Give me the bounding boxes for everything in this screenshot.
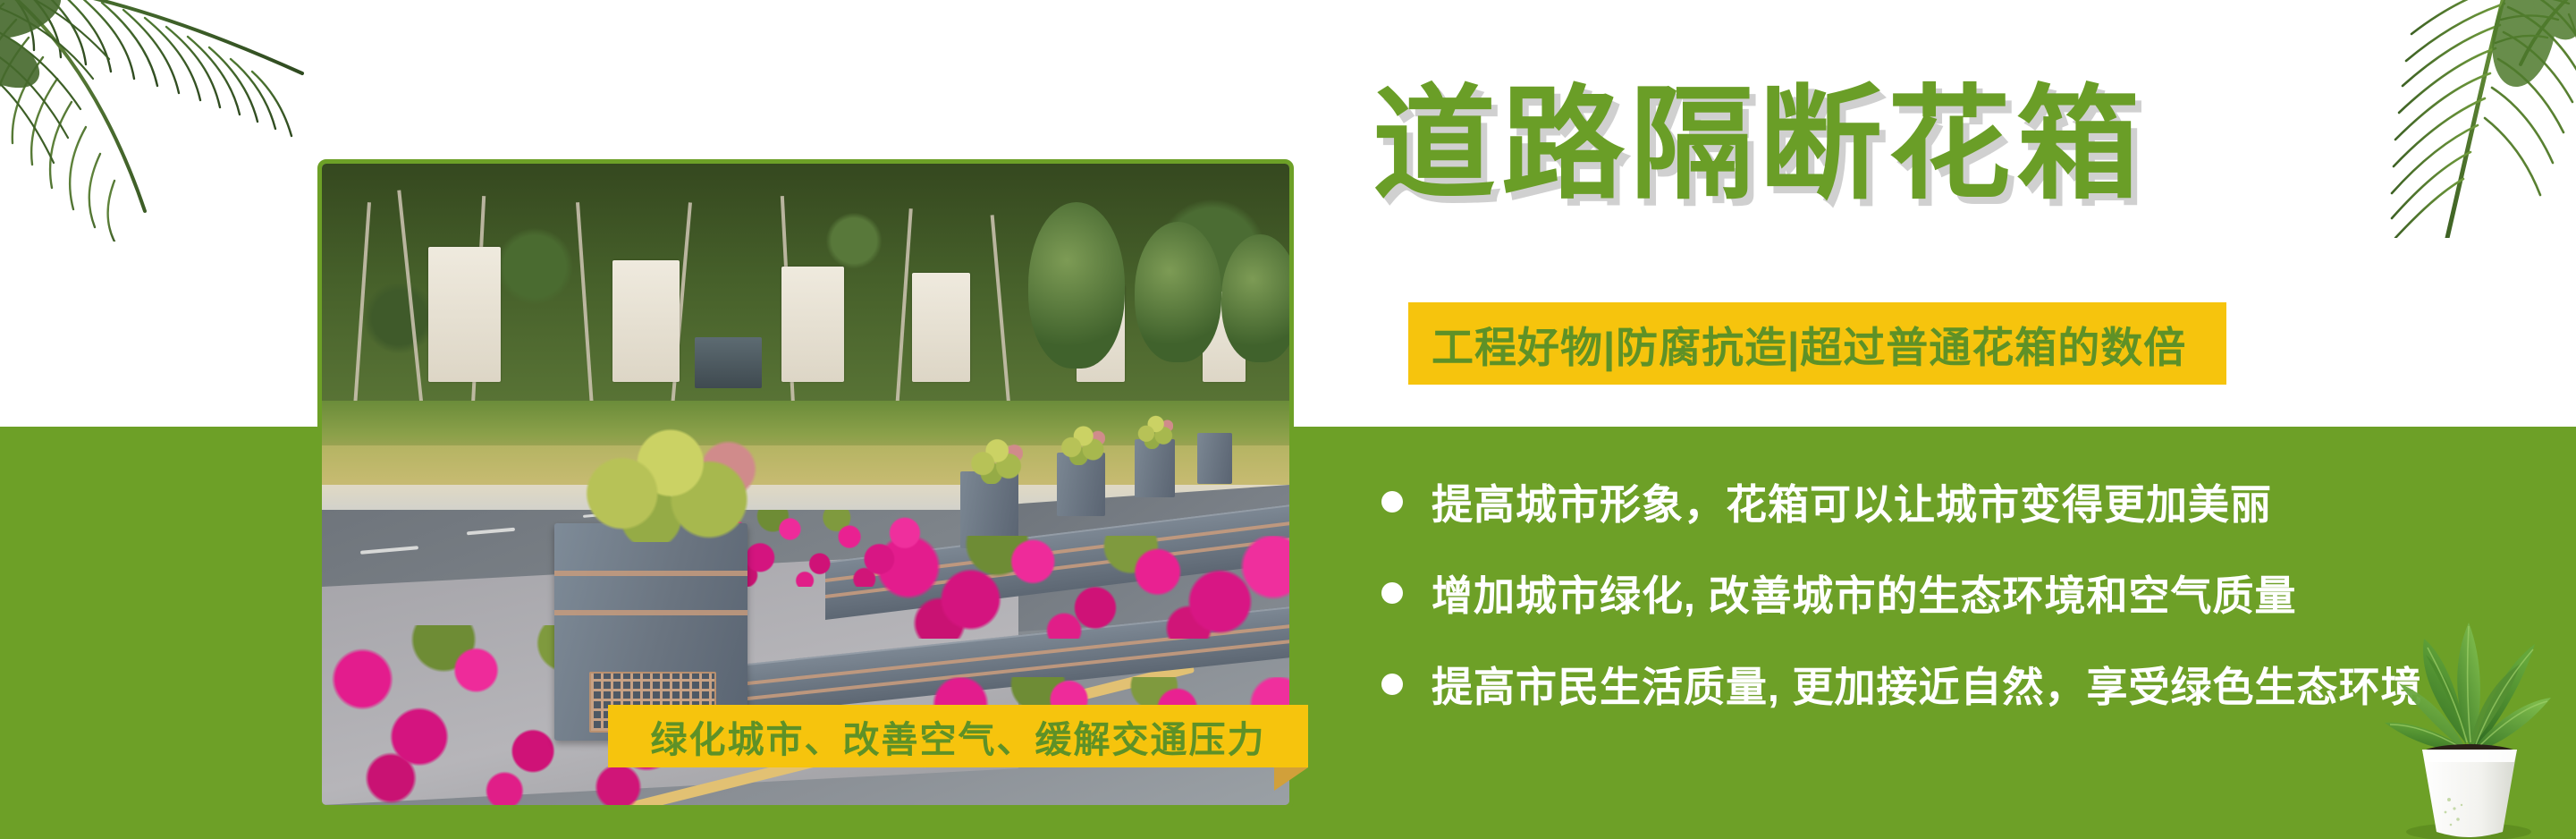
conifer-tree <box>1028 202 1125 369</box>
flower-bed <box>864 536 1289 639</box>
main-planter-foliage <box>564 420 757 542</box>
wall-panel <box>912 273 970 382</box>
bullet-dot-icon <box>1381 582 1403 604</box>
conifer-tree <box>1221 234 1289 362</box>
wall-panel <box>428 247 501 382</box>
subtitle-text: 工程好物|防腐抗造|超过普通花箱的数倍 <box>1408 313 2186 375</box>
caption-fold-corner <box>1274 767 1308 791</box>
palm-frond-icon <box>0 0 309 242</box>
list-item: 提高城市形象，花箱可以让城市变得更加美丽 <box>1381 456 2562 547</box>
conifer-tree <box>1135 222 1221 363</box>
wall-panel <box>781 267 844 382</box>
subtitle-badge: 工程好物|防腐抗造|超过普通花箱的数倍 <box>1408 302 2226 385</box>
photo-caption-text: 绿化城市、改善空气、缓解交通压力 <box>651 709 1266 763</box>
photo-caption-band: 绿化城市、改善空气、缓解交通压力 <box>608 705 1308 767</box>
bullet-dot-icon <box>1381 491 1403 513</box>
list-item-label: 提高市民生活质量, 更加接近自然，享受绿色生态环境 <box>1432 655 2423 714</box>
palm-frond-icon <box>2290 0 2576 238</box>
planter-foliage <box>966 433 1024 484</box>
product-banner: 绿化城市、改善空气、缓解交通压力 道路隔断花箱 工程好物|防腐抗造|超过普通花箱… <box>0 0 2576 839</box>
planter-foliage <box>1135 411 1173 449</box>
list-item-label: 提高城市形象，花箱可以让城市变得更加美丽 <box>1432 472 2272 531</box>
list-item-label: 增加城市绿化, 改善城市的生态环境和空气质量 <box>1432 564 2297 623</box>
utility-cabinet <box>695 337 763 388</box>
potted-plant-icon <box>2372 608 2560 839</box>
page-title: 道路隔断花箱 <box>1372 83 2145 207</box>
bullet-dot-icon <box>1381 674 1403 695</box>
planter-foliage <box>1057 420 1105 465</box>
planter-box <box>1197 433 1232 484</box>
wall-panel <box>612 260 680 382</box>
